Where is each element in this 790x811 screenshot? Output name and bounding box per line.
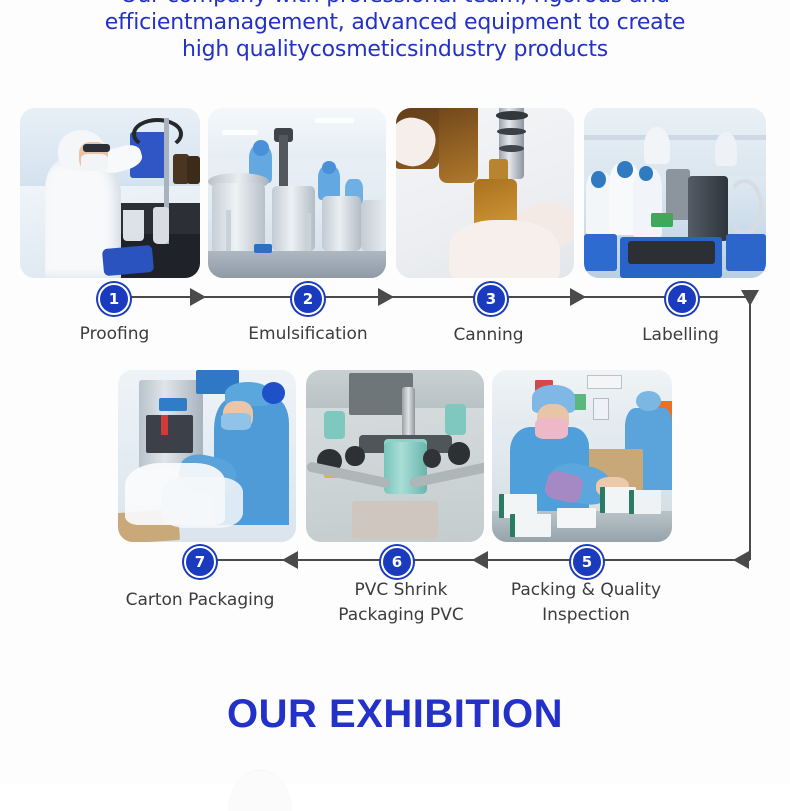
step-label-canning: Canning bbox=[406, 323, 571, 348]
flow-arrow-5-to-6 bbox=[472, 551, 488, 569]
process-photo-pvc-shrink bbox=[306, 370, 484, 542]
next-section-image-peek bbox=[228, 770, 292, 811]
process-photo-labelling bbox=[584, 108, 766, 278]
step-badge-4: 4 bbox=[666, 283, 698, 315]
flow-arrow-3-to-4 bbox=[570, 288, 586, 306]
step-badge-2: 2 bbox=[292, 283, 324, 315]
flow-arrow-turn-down bbox=[741, 290, 759, 306]
step-label-labelling: Labelling bbox=[598, 323, 763, 348]
process-photo-emulsification bbox=[208, 108, 386, 278]
step-badge-5: 5 bbox=[571, 546, 603, 578]
process-photo-carton-packaging bbox=[118, 370, 296, 542]
step-label-packing-inspection: Packing & Quality Inspection bbox=[496, 578, 676, 628]
step-label-carton-packaging: Carton Packaging bbox=[110, 588, 290, 613]
step-label-pvc-shrink: PVC Shrink Packaging PVC bbox=[312, 578, 490, 628]
step-badge-6: 6 bbox=[381, 546, 413, 578]
flow-arrow-turn-left bbox=[733, 551, 749, 569]
flow-arrow-1-to-2 bbox=[190, 288, 206, 306]
flow-arrow-6-to-7 bbox=[282, 551, 298, 569]
process-photo-proofing bbox=[20, 108, 200, 278]
step-badge-3: 3 bbox=[475, 283, 507, 315]
flow-arrow-2-to-3 bbox=[378, 288, 394, 306]
step-badge-7: 7 bbox=[184, 546, 216, 578]
flow-line-row1 bbox=[112, 296, 750, 298]
process-photo-packing-inspection bbox=[492, 370, 672, 542]
exhibition-section-title: OUR EXHIBITION bbox=[0, 692, 790, 737]
process-photo-canning bbox=[396, 108, 574, 278]
step-badge-1: 1 bbox=[98, 283, 130, 315]
intro-heading: Our company with professional team, rigo… bbox=[0, 0, 790, 63]
step-label-proofing: Proofing bbox=[32, 322, 197, 347]
step-label-emulsification: Emulsification bbox=[218, 322, 398, 347]
